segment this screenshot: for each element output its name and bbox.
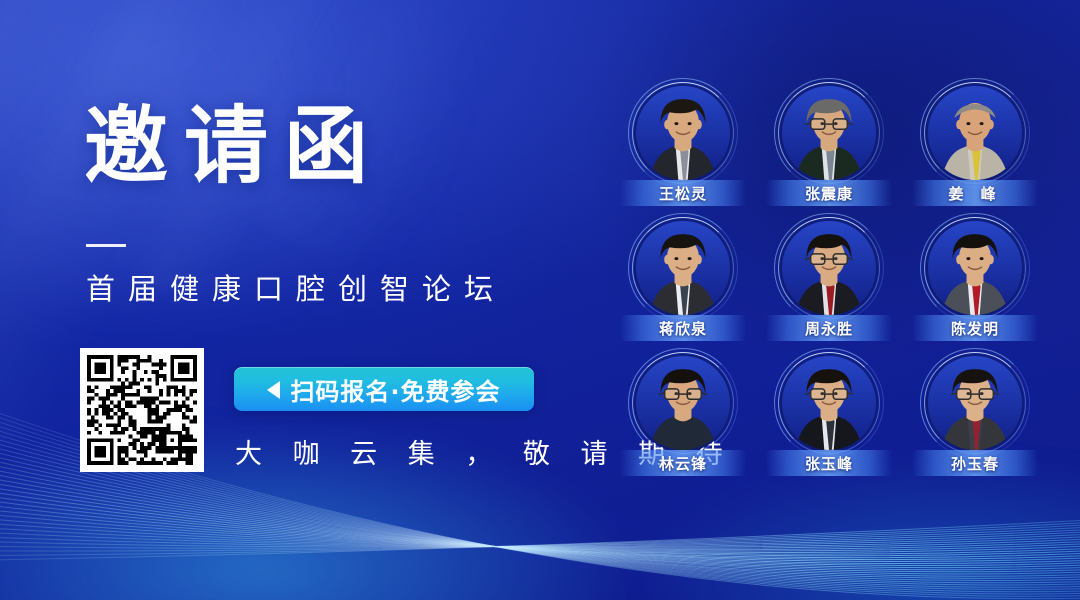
speaker-name-plate: 林云锋	[620, 450, 746, 476]
portrait-avatar-icon	[636, 86, 730, 180]
title-divider	[86, 244, 126, 247]
avatar	[636, 221, 730, 315]
speaker-avatar-ring	[634, 354, 732, 452]
scan-register-button[interactable]: 扫码报名·免费参会	[234, 367, 534, 411]
avatar	[636, 86, 730, 180]
speaker-card[interactable]: 王松灵	[614, 84, 752, 204]
avatar	[928, 356, 1022, 450]
event-subtitle: 首届健康口腔创智论坛	[86, 266, 506, 308]
portrait-avatar-icon	[782, 86, 876, 180]
speaker-card[interactable]: 张震康	[760, 84, 898, 204]
speaker-name-plate: 姜 峰	[912, 180, 1038, 206]
speaker-name: 张玉峰	[805, 453, 853, 474]
speaker-name: 陈发明	[951, 318, 999, 339]
qr-code-icon[interactable]	[80, 348, 204, 472]
avatar	[782, 221, 876, 315]
page-title: 邀请函	[84, 104, 384, 188]
speaker-card[interactable]: 林云锋	[614, 354, 752, 474]
speaker-avatar-ring	[634, 219, 732, 317]
speaker-card[interactable]: 周永胜	[760, 219, 898, 339]
portrait-avatar-icon	[928, 356, 1022, 450]
speaker-card[interactable]: 张玉峰	[760, 354, 898, 474]
avatar	[782, 356, 876, 450]
speaker-avatar-ring	[780, 354, 878, 452]
speaker-avatar-ring	[926, 354, 1024, 452]
speaker-card[interactable]: 姜 峰	[906, 84, 1044, 204]
speaker-name-plate: 王松灵	[620, 180, 746, 206]
avatar	[928, 221, 1022, 315]
triangle-left-icon	[267, 381, 280, 399]
speaker-name-plate: 蒋欣泉	[620, 315, 746, 341]
speaker-name: 蒋欣泉	[659, 318, 707, 339]
speaker-name-plate: 张震康	[766, 180, 892, 206]
left-content-column: 邀请函 首届健康口腔创智论坛 扫码报名·免费参会 大 咖 云 集 ， 敬 请 期…	[0, 0, 600, 600]
portrait-avatar-icon	[928, 221, 1022, 315]
speaker-name: 周永胜	[805, 318, 853, 339]
speaker-name-plate: 张玉峰	[766, 450, 892, 476]
speaker-avatar-ring	[926, 219, 1024, 317]
speaker-card[interactable]: 陈发明	[906, 219, 1044, 339]
portrait-avatar-icon	[636, 221, 730, 315]
speaker-name: 张震康	[805, 183, 853, 204]
qr-code-svg	[87, 355, 197, 465]
speaker-avatar-ring	[926, 84, 1024, 182]
speaker-name-plate: 孙玉春	[912, 450, 1038, 476]
speakers-grid: 王松灵张震康姜 峰蒋欣泉周永胜陈发明林云锋张玉峰孙玉春	[614, 84, 1044, 474]
portrait-avatar-icon	[782, 356, 876, 450]
avatar	[636, 356, 730, 450]
speaker-name: 孙玉春	[951, 453, 999, 474]
speaker-name: 林云锋	[659, 453, 707, 474]
speaker-avatar-ring	[780, 84, 878, 182]
speaker-avatar-ring	[634, 84, 732, 182]
scan-register-label: 扫码报名·免费参会	[290, 372, 500, 407]
avatar	[782, 86, 876, 180]
portrait-avatar-icon	[782, 221, 876, 315]
speaker-name: 姜 峰	[948, 183, 1001, 204]
speaker-card[interactable]: 孙玉春	[906, 354, 1044, 474]
speaker-name: 王松灵	[659, 183, 707, 204]
speaker-name-plate: 陈发明	[912, 315, 1038, 341]
speaker-card[interactable]: 蒋欣泉	[614, 219, 752, 339]
avatar	[928, 86, 1022, 180]
speaker-name-plate: 周永胜	[766, 315, 892, 341]
portrait-avatar-icon	[636, 356, 730, 450]
invitation-poster: 邀请函 首届健康口腔创智论坛 扫码报名·免费参会 大 咖 云 集 ， 敬 请 期…	[0, 0, 1080, 600]
portrait-avatar-icon	[928, 86, 1022, 180]
speaker-avatar-ring	[780, 219, 878, 317]
